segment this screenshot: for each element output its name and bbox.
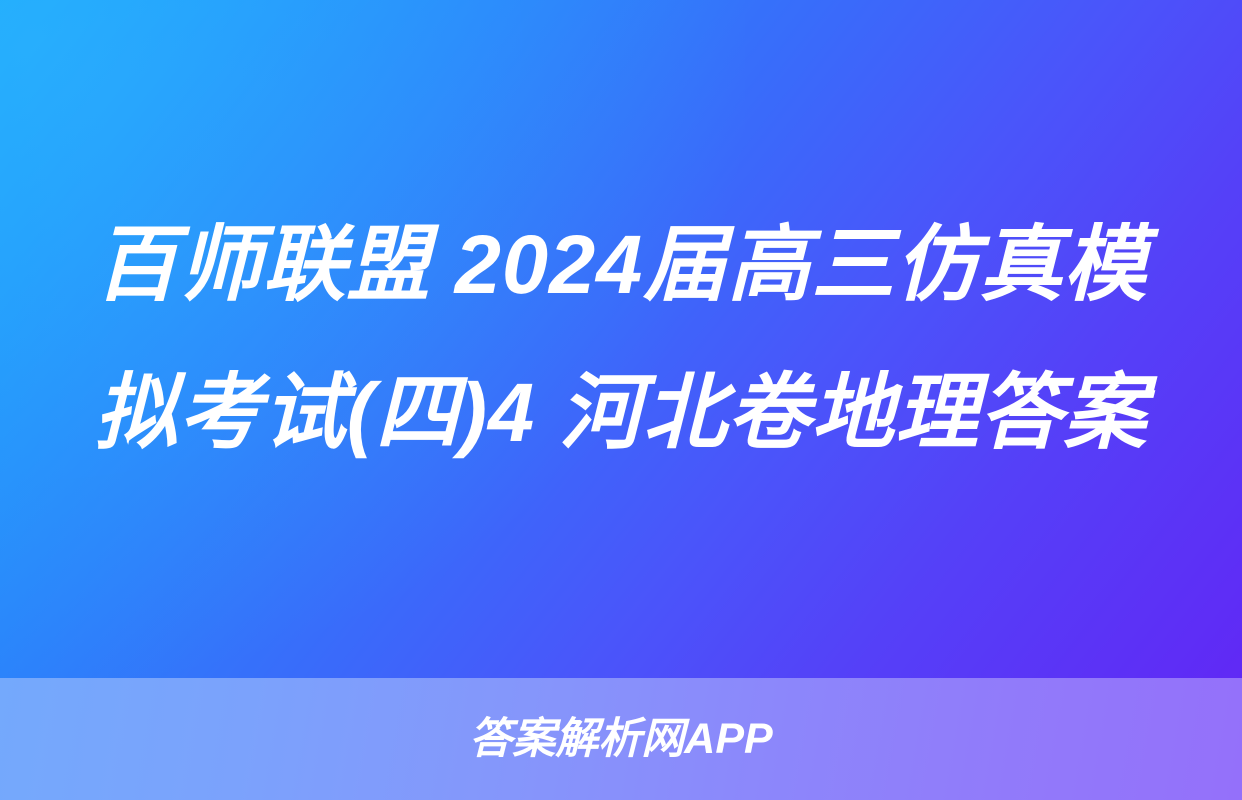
footer-watermark-band: 答案解析网APP	[0, 678, 1242, 800]
page-title: 百师联盟 2024届高三仿真模拟考试(四)4 河北卷地理答案	[83, 191, 1159, 487]
hero-section: 百师联盟 2024届高三仿真模拟考试(四)4 河北卷地理答案	[0, 0, 1242, 678]
answer-banner-card: 百师联盟 2024届高三仿真模拟考试(四)4 河北卷地理答案 答案解析网APP	[0, 0, 1242, 800]
site-watermark: 答案解析网APP	[469, 718, 772, 761]
